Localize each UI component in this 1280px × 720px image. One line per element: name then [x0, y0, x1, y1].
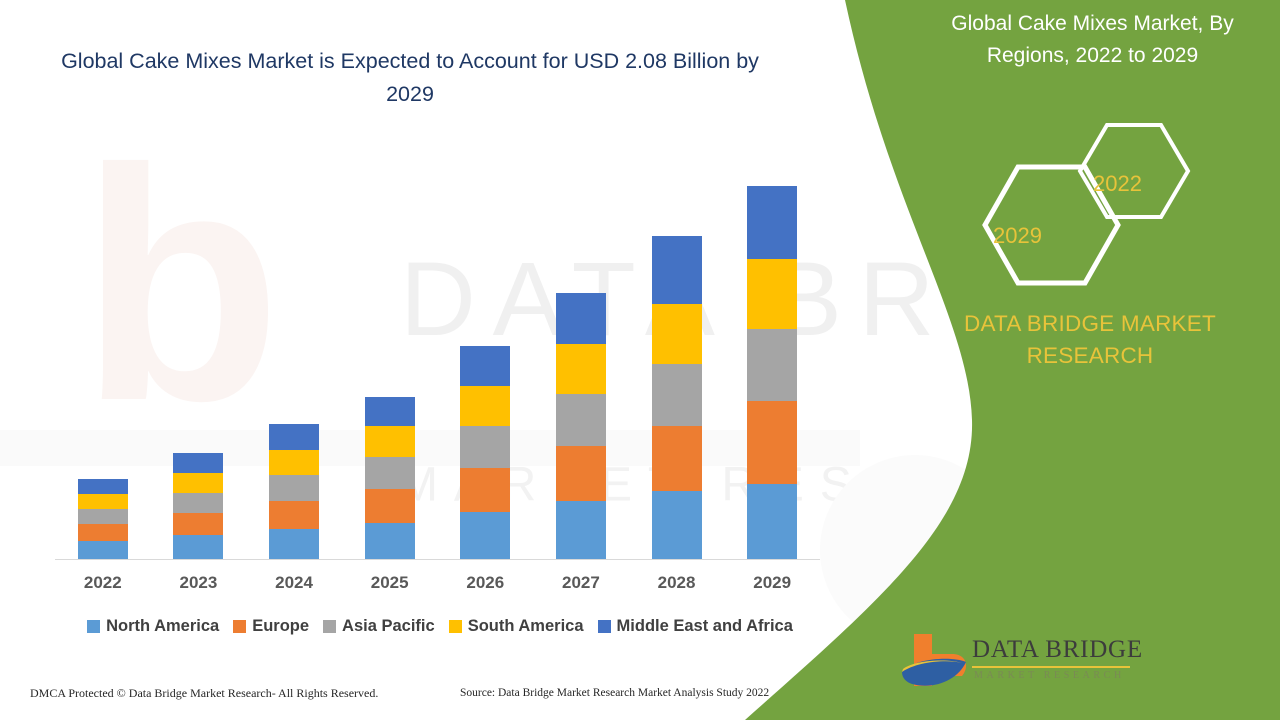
logo-text: DATA BRIDGE	[972, 636, 1143, 664]
bar-segment	[78, 494, 128, 509]
bar-segment	[747, 484, 797, 559]
bar-segment	[460, 512, 510, 559]
bar-segment	[173, 473, 223, 493]
chart-panel: Global Cake Mixes Market is Expected to …	[0, 0, 880, 720]
bar-segment	[173, 535, 223, 559]
legend-item[interactable]: Europe	[233, 617, 309, 636]
bar-segment	[652, 364, 702, 426]
data-bridge-logo: DATA BRIDGE MARKET RESEARCH	[900, 628, 1140, 698]
stacked-bar-series	[55, 140, 820, 559]
legend-label: Europe	[252, 617, 309, 636]
bar-segment	[460, 468, 510, 512]
bar-segment	[460, 346, 510, 386]
bar-column	[629, 140, 724, 559]
legend-item[interactable]: Asia Pacific	[323, 617, 435, 636]
bar-segment	[652, 304, 702, 364]
legend-label: North America	[106, 617, 219, 636]
x-axis-line	[55, 559, 820, 560]
bar-segment	[269, 424, 319, 450]
bar-segment	[78, 541, 128, 559]
legend-label: South America	[468, 617, 584, 636]
hexagon-label-2029: 2029	[993, 223, 1042, 249]
stacked-bar	[556, 293, 606, 559]
chart-title: Global Cake Mixes Market is Expected to …	[60, 45, 760, 111]
bar-column	[725, 140, 820, 559]
legend-swatch-icon	[323, 620, 336, 633]
x-axis-label: 2028	[629, 573, 724, 593]
bar-column	[247, 140, 342, 559]
x-axis-label: 2023	[151, 573, 246, 593]
hexagon-shapes	[975, 115, 1275, 300]
stacked-bar	[173, 453, 223, 559]
stacked-bar	[78, 479, 128, 559]
bar-segment	[652, 491, 702, 559]
bar-segment	[460, 426, 510, 468]
legend-label: Middle East and Africa	[617, 617, 793, 636]
legend-swatch-icon	[449, 620, 462, 633]
x-axis-labels: 20222023202420252026202720282029	[55, 573, 820, 593]
logo-subtitle: MARKET RESEARCH	[974, 670, 1125, 681]
bar-segment	[365, 489, 415, 523]
legend-swatch-icon	[233, 620, 246, 633]
legend-swatch-icon	[87, 620, 100, 633]
bar-segment	[556, 446, 606, 501]
bar-segment	[365, 457, 415, 489]
stacked-bar	[269, 424, 319, 559]
bar-segment	[78, 479, 128, 494]
bar-column	[342, 140, 437, 559]
bar-segment	[460, 386, 510, 426]
stacked-bar	[460, 346, 510, 559]
bar-segment	[747, 401, 797, 484]
hexagon-group: 2029 2022	[975, 115, 1275, 300]
bar-segment	[556, 344, 606, 394]
x-axis-label: 2022	[55, 573, 150, 593]
bar-segment	[365, 426, 415, 457]
regions-title: Global Cake Mixes Market, By Regions, 20…	[910, 8, 1275, 72]
legend-swatch-icon	[598, 620, 611, 633]
x-axis-label: 2026	[438, 573, 533, 593]
legend-item[interactable]: South America	[449, 617, 584, 636]
bar-segment	[652, 426, 702, 491]
hexagon-label-2022: 2022	[1093, 171, 1142, 197]
brand-name: DATA BRIDGE MARKET RESEARCH	[900, 308, 1280, 372]
bar-segment	[269, 475, 319, 501]
bar-segment	[556, 501, 606, 559]
bar-segment	[365, 523, 415, 559]
bar-segment	[747, 259, 797, 329]
legend-label: Asia Pacific	[342, 617, 435, 636]
bar-column	[438, 140, 533, 559]
logo-divider	[972, 666, 1130, 668]
bar-segment	[173, 453, 223, 473]
footer-source: Source: Data Bridge Market Research Mark…	[460, 687, 769, 699]
legend-item[interactable]: Middle East and Africa	[598, 617, 793, 636]
green-panel-content: Global Cake Mixes Market, By Regions, 20…	[900, 0, 1280, 720]
bar-segment	[747, 329, 797, 401]
bar-segment	[173, 513, 223, 535]
x-axis-label: 2029	[725, 573, 820, 593]
footer-copyright: DMCA Protected © Data Bridge Market Rese…	[30, 686, 378, 701]
x-axis-label: 2027	[533, 573, 628, 593]
bar-segment	[269, 529, 319, 559]
bar-column	[151, 140, 246, 559]
bar-segment	[747, 186, 797, 259]
legend-item[interactable]: North America	[87, 617, 219, 636]
bar-segment	[78, 524, 128, 541]
bar-column	[55, 140, 150, 559]
bar-segment	[556, 293, 606, 344]
bar-column	[533, 140, 628, 559]
bar-segment	[269, 450, 319, 475]
x-axis-label: 2025	[342, 573, 437, 593]
stacked-bar	[652, 236, 702, 559]
infographic-canvas: b DATA BRIDGE MARKET RESEARCH Global Cak…	[0, 0, 1280, 720]
chart-legend: North AmericaEuropeAsia PacificSouth Ame…	[45, 617, 835, 636]
bar-segment	[269, 501, 319, 529]
stacked-bar	[365, 397, 415, 559]
x-axis-label: 2024	[247, 573, 342, 593]
bar-segment	[365, 397, 415, 426]
bar-segment	[652, 236, 702, 304]
bar-segment	[78, 509, 128, 524]
bar-segment	[556, 394, 606, 446]
bar-segment	[173, 493, 223, 513]
stacked-bar	[747, 186, 797, 559]
